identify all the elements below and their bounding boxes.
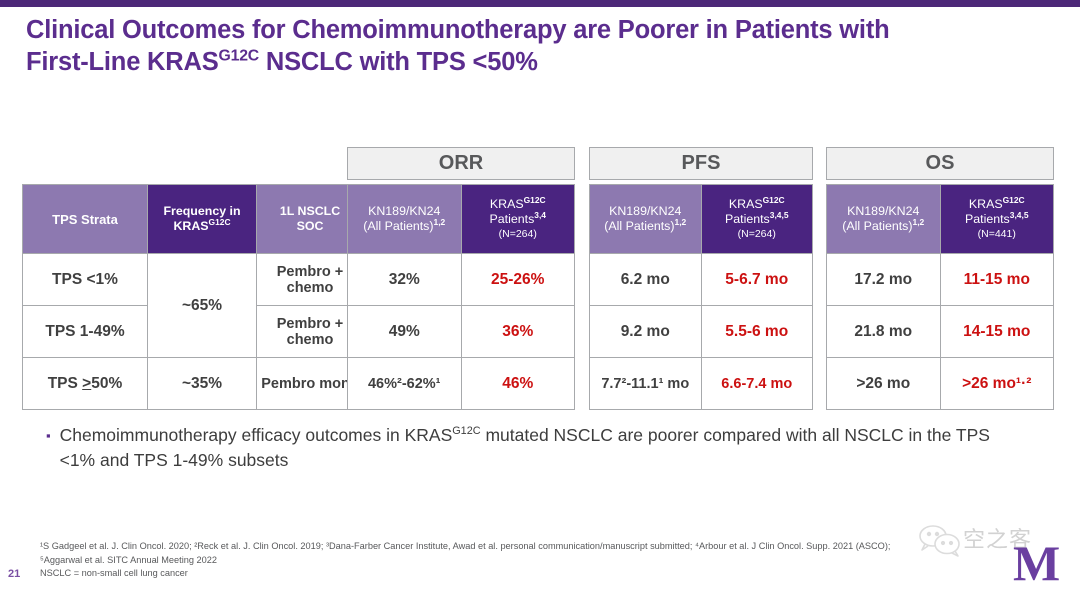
header-os-kras-patients: KRASG12C Patients3,4,5 (N=441) [940, 185, 1054, 254]
top-accent-bar [0, 0, 1080, 7]
title-superscript-g12c: G12C [219, 48, 259, 65]
header-os-all-patients: KN189/KN24 (All Patients)1,2 [827, 185, 941, 254]
table-row: TPS >50% ~35% Pembro mono [23, 358, 364, 410]
cell-pfs-all-2: 7.7²-11.1¹ mo [590, 358, 702, 410]
table-row: TPS <1% ~65% Pembro + chemo [23, 254, 364, 306]
footnote-line-3: NSCLC = non-small cell lung cancer [40, 567, 940, 581]
table-row: 21.8 mo 14-15 mo [827, 306, 1054, 358]
header-os-all-line2: (All Patients) [842, 219, 912, 233]
cell-pfs-kras-2: 6.6-7.4 mo [701, 358, 813, 410]
table-row: 46%²-62%¹ 46% [348, 358, 575, 410]
table-row: 17.2 mo 11-15 mo [827, 254, 1054, 306]
table-row: 49% 36% [348, 306, 575, 358]
summary-bullet: ▪ Chemoimmunotherapy efficacy outcomes i… [46, 423, 1026, 473]
metric-block-os: OS KN189/KN24 (All Patients)1,2 KRASG12C… [826, 147, 1054, 410]
table-row: 32% 25-26% [348, 254, 575, 306]
header-orr-kras-line1: KRAS [490, 197, 524, 211]
bullet-superscript-g12c: G12C [452, 425, 480, 437]
cell-pfs-all-1: 9.2 mo [590, 306, 702, 358]
outcomes-tables: TPS Strata Frequency in KRASG12C 1L NSCL… [22, 147, 1058, 392]
table-row: >26 mo >26 mo¹·² [827, 358, 1054, 410]
cell-strata-2: TPS >50% [23, 358, 148, 410]
header-orr-all-line1: KN189/KN24 [368, 204, 440, 218]
table-header-row: KN189/KN24 (All Patients)1,2 KRASG12C Pa… [348, 185, 575, 254]
header-os-kras-n: (N=441) [944, 227, 1051, 242]
table-header-row: KN189/KN24 (All Patients)1,2 KRASG12C Pa… [590, 185, 813, 254]
header-pfs-all-line2: (All Patients) [604, 219, 674, 233]
cell-os-kras-0: 11-15 mo [940, 254, 1054, 306]
cell-strata-2-suffix: 50% [91, 375, 122, 392]
orr-table: KN189/KN24 (All Patients)1,2 KRASG12C Pa… [347, 184, 575, 410]
header-os-kras-line2: Patients [965, 212, 1010, 226]
header-pfs-all-line1: KN189/KN24 [609, 204, 681, 218]
header-orr-all-patients: KN189/KN24 (All Patients)1,2 [348, 185, 462, 254]
metric-title-os: OS [826, 147, 1054, 180]
header-orr-kras-line2: Patients [490, 212, 535, 226]
header-pfs-kras-line2: Patients [725, 212, 770, 226]
os-table: KN189/KN24 (All Patients)1,2 KRASG12C Pa… [826, 184, 1054, 410]
cell-orr-kras-0: 25-26% [461, 254, 575, 306]
header-pfs-kras-superscript-g12c: G12C [763, 194, 785, 204]
cell-frequency-35: ~35% [148, 358, 257, 410]
title-line-2-part-b: NSCLC with TPS <50% [259, 48, 538, 76]
cell-orr-all-0: 32% [348, 254, 462, 306]
cell-frequency-65: ~65% [148, 254, 257, 358]
cell-pfs-kras-1: 5.5-6 mo [701, 306, 813, 358]
metric-block-orr: ORR KN189/KN24 (All Patients)1,2 KRASG12… [347, 147, 575, 410]
table-row: 7.7²-11.1¹ mo 6.6-7.4 mo [590, 358, 813, 410]
header-pfs-kras-n: (N=264) [705, 227, 810, 242]
cell-os-all-2: >26 mo [827, 358, 941, 410]
wechat-icon [917, 524, 963, 563]
cell-strata-1: TPS 1-49% [23, 306, 148, 358]
tps-strata-table: TPS Strata Frequency in KRASG12C 1L NSCL… [22, 184, 364, 410]
header-pfs-kras-line1: KRAS [729, 197, 763, 211]
cell-orr-kras-2: 46% [461, 358, 575, 410]
cell-pfs-kras-0: 5-6.7 mo [701, 254, 813, 306]
header-orr-kras-superscript-refs: 3,4 [534, 209, 546, 219]
bullet-marker-icon: ▪ [46, 423, 51, 473]
greater-or-equal-glyph: > [82, 375, 91, 392]
merck-logo: M [1013, 538, 1060, 588]
header-orr-kras-superscript-g12c: G12C [524, 194, 546, 204]
metric-block-pfs: PFS KN189/KN24 (All Patients)1,2 KRASG12… [589, 147, 813, 410]
header-orr-all-superscript: 1,2 [434, 217, 446, 227]
header-soc-line2: SOC [297, 219, 324, 233]
footnote-line-1: ¹S Gadgeel et al. J. Clin Oncol. 2020; ²… [40, 540, 940, 554]
header-pfs-all-superscript: 1,2 [675, 217, 687, 227]
cell-os-all-1: 21.8 mo [827, 306, 941, 358]
title-line-1: Clinical Outcomes for Chemoimmunotherapy… [26, 16, 890, 44]
table-header-row: KN189/KN24 (All Patients)1,2 KRASG12C Pa… [827, 185, 1054, 254]
header-pfs-kras-patients: KRASG12C Patients3,4,5 (N=264) [701, 185, 813, 254]
cell-pfs-all-0: 6.2 mo [590, 254, 702, 306]
cell-orr-all-1: 49% [348, 306, 462, 358]
header-os-all-line1: KN189/KN24 [847, 204, 919, 218]
header-os-all-superscript: 1,2 [913, 217, 925, 227]
table-row: 9.2 mo 5.5-6 mo [590, 306, 813, 358]
footnotes: ¹S Gadgeel et al. J. Clin Oncol. 2020; ²… [40, 540, 940, 581]
header-pfs-all-patients: KN189/KN24 (All Patients)1,2 [590, 185, 702, 254]
header-os-kras-superscript-refs: 3,4,5 [1010, 209, 1029, 219]
metric-title-orr: ORR [347, 147, 575, 180]
cell-os-kras-2: >26 mo¹·² [940, 358, 1054, 410]
cell-orr-all-2: 46%²-62%¹ [348, 358, 462, 410]
title-line-2-part-a: First-Line KRAS [26, 48, 219, 76]
cell-strata-0: TPS <1% [23, 254, 148, 306]
header-orr-kras-patients: KRASG12C Patients3,4 (N=264) [461, 185, 575, 254]
metric-title-pfs: PFS [589, 147, 813, 180]
cell-os-all-0: 17.2 mo [827, 254, 941, 306]
footnote-line-2: ⁵Aggarwal et al. SITC Annual Meeting 202… [40, 554, 940, 568]
bullet-text-part-a: Chemoimmunotherapy efficacy outcomes in … [60, 425, 453, 445]
bullet-text: Chemoimmunotherapy efficacy outcomes in … [60, 423, 1026, 473]
page-number: 21 [8, 568, 20, 580]
header-frequency-line2: KRAS [173, 219, 208, 233]
page-title: Clinical Outcomes for Chemoimmunotherapy… [26, 14, 1036, 78]
header-frequency-superscript: G12C [209, 217, 231, 227]
pfs-table: KN189/KN24 (All Patients)1,2 KRASG12C Pa… [589, 184, 813, 410]
cell-os-kras-1: 14-15 mo [940, 306, 1054, 358]
header-pfs-kras-superscript-refs: 3,4,5 [770, 209, 789, 219]
watermark: 空之客 M [905, 518, 1075, 588]
header-os-kras-line1: KRAS [969, 197, 1003, 211]
header-orr-all-line2: (All Patients) [363, 219, 433, 233]
header-frequency-kras: Frequency in KRASG12C [148, 185, 257, 254]
header-orr-kras-n: (N=264) [465, 227, 572, 242]
table-header-row: TPS Strata Frequency in KRASG12C 1L NSCL… [23, 185, 364, 254]
cell-orr-kras-1: 36% [461, 306, 575, 358]
cell-strata-2-prefix: TPS [48, 375, 82, 392]
table-row: 6.2 mo 5-6.7 mo [590, 254, 813, 306]
header-soc-line1: 1L NSCLC [280, 204, 340, 218]
header-os-kras-superscript-g12c: G12C [1003, 194, 1025, 204]
header-tps-strata: TPS Strata [23, 185, 148, 254]
